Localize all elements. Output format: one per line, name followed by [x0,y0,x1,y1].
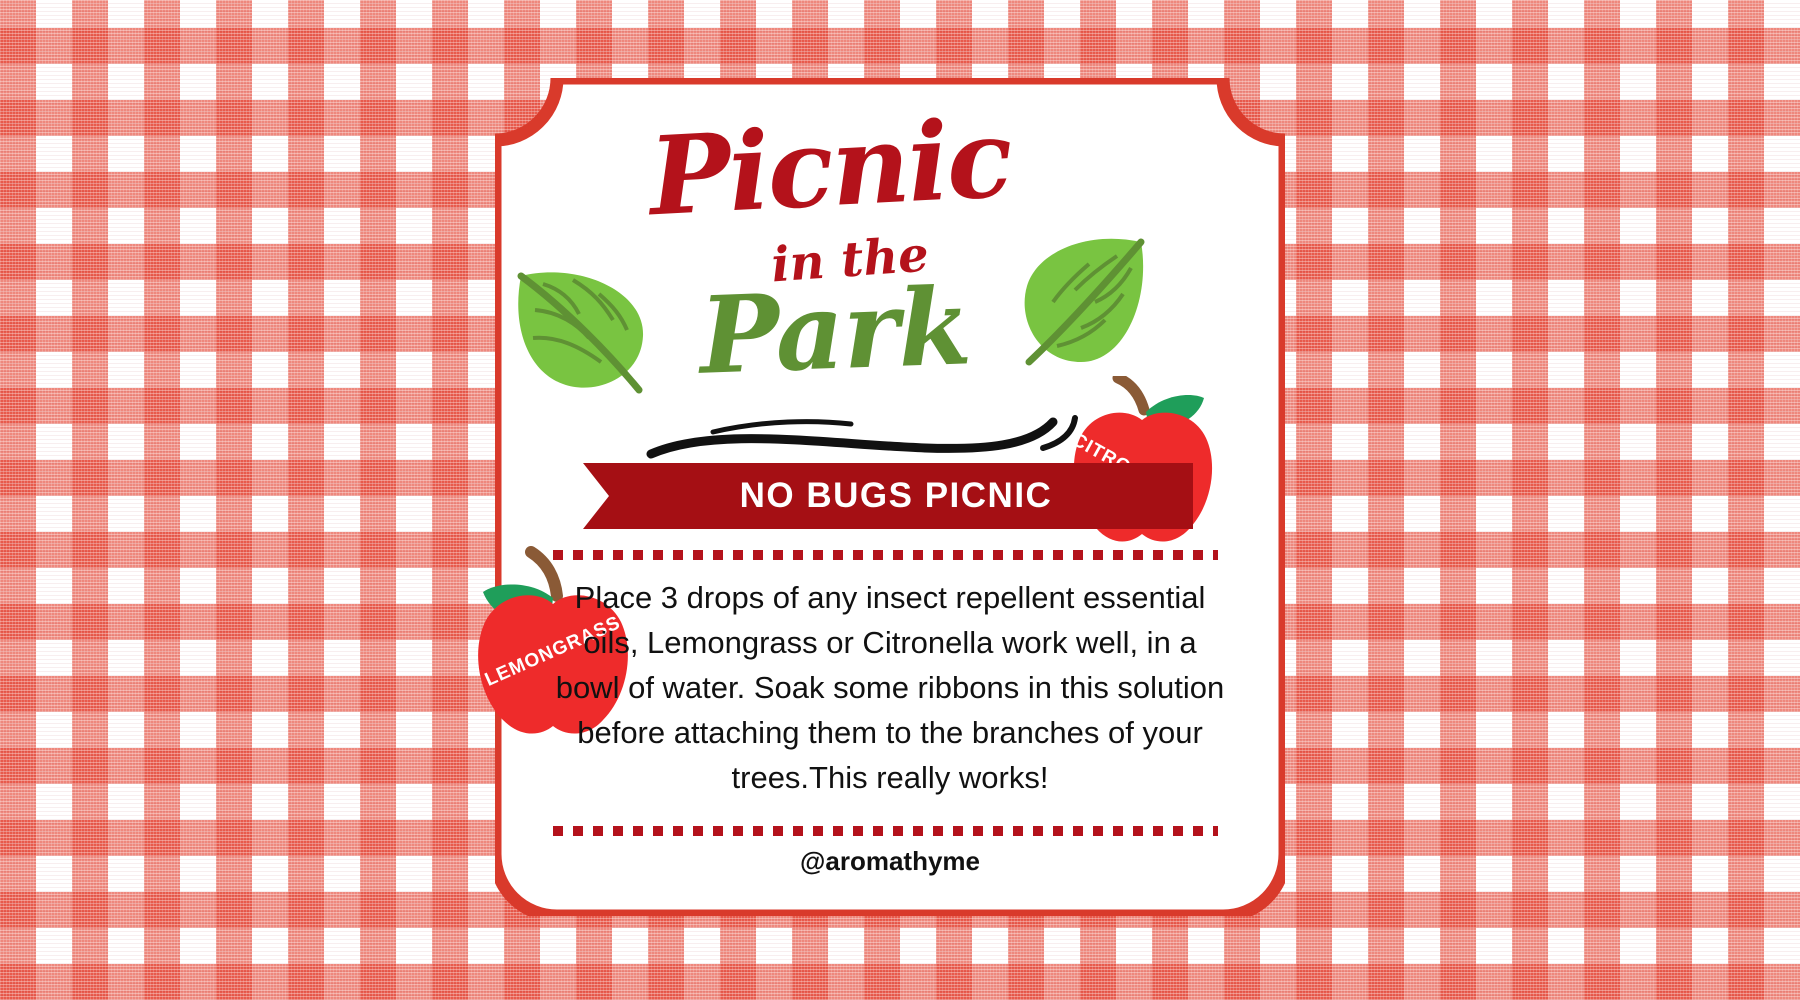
swoosh-flourish-icon [645,408,1085,470]
banner: NO BUGS PICNIC [583,463,1193,529]
divider-top [553,550,1218,560]
footer-handle: @aromathyme [555,846,1225,877]
leaf-icon-left [507,250,657,400]
body-text: Place 3 drops of any insect repellent es… [555,575,1225,800]
leaf-icon-right [1005,228,1165,388]
banner-label: NO BUGS PICNIC [583,463,1193,529]
card-content: Picnic in the Park CITRONELLA [495,78,1285,916]
title-line-park: Park [643,271,1026,390]
title-line-picnic: Picnic [612,103,1047,233]
picnic-poster: Picnic in the Park CITRONELLA [0,0,1800,1000]
divider-bottom [553,826,1218,836]
recipe-card: Picnic in the Park CITRONELLA [495,78,1285,916]
